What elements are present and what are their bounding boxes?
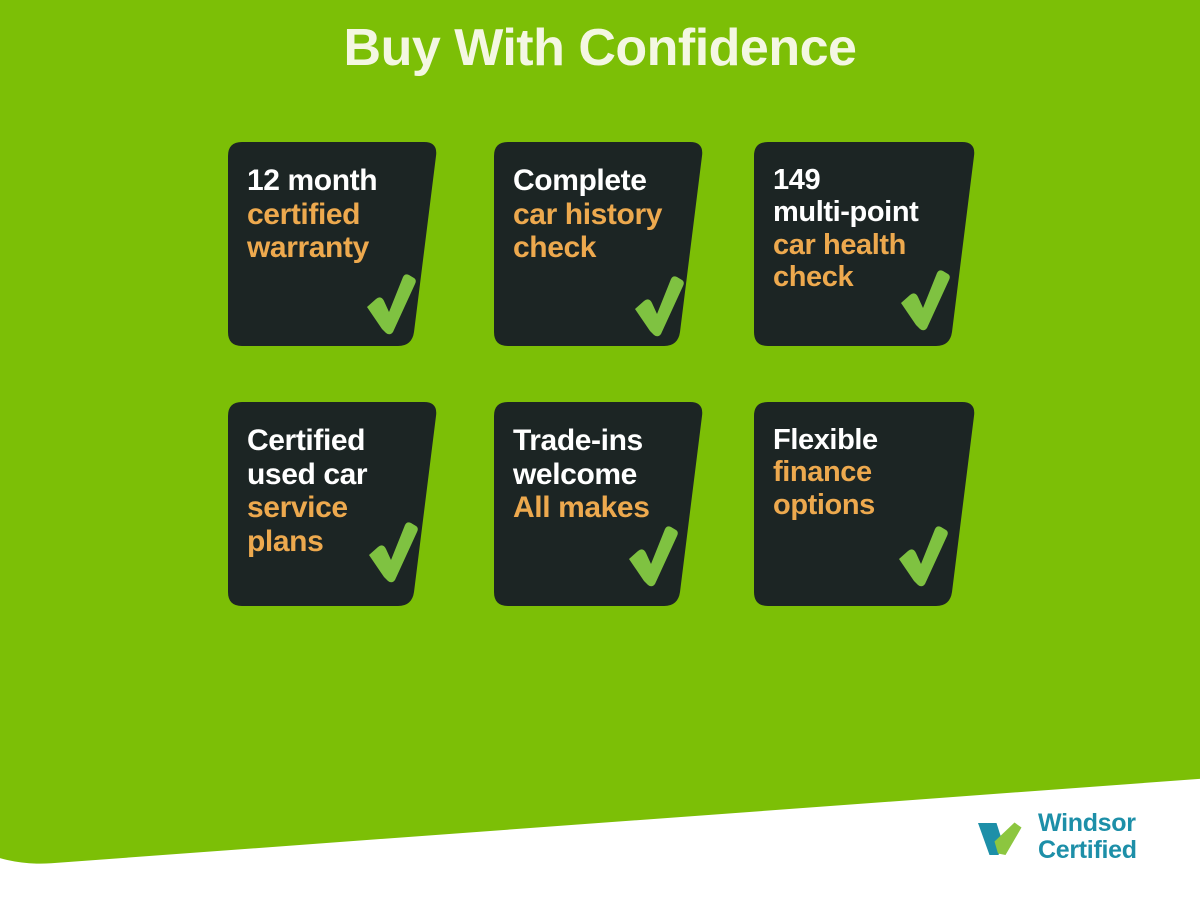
page-title: Buy With Confidence (0, 22, 1200, 74)
card-line: certified (247, 198, 422, 232)
card-line: Flexible (773, 424, 960, 456)
windsor-w-checkmark-icon (974, 810, 1028, 864)
card-line: All makes (513, 491, 688, 525)
card-line: used car (247, 458, 422, 492)
logo-wordmark: Windsor Certified (1038, 810, 1137, 864)
card-line: car health (773, 229, 960, 261)
card-line: options (773, 489, 960, 521)
logo-line-1: Windsor (1038, 810, 1137, 837)
card-text-block: Trade-inswelcomeAll makes (494, 402, 704, 525)
feature-card-trade-ins-welcome-all-makes[interactable]: Trade-inswelcomeAll makes (494, 402, 704, 606)
page-content: Buy With Confidence 12 monthcertifiedwar… (0, 0, 1200, 900)
card-line: check (513, 231, 688, 265)
card-text-block: 12 monthcertifiedwarranty (228, 142, 438, 265)
feature-card-149-multi-point-car-health-check[interactable]: 149multi-pointcar healthcheck (754, 142, 976, 346)
feature-card-certified-used-car-service-plans[interactable]: Certifiedused carserviceplans (228, 402, 438, 606)
card-line: Certified (247, 424, 422, 458)
feature-card-12-month-certified-warranty[interactable]: 12 monthcertifiedwarranty (228, 142, 438, 346)
windsor-certified-logo: Windsor Certified (974, 810, 1137, 864)
card-line: 12 month (247, 164, 422, 198)
card-line: check (773, 261, 960, 293)
card-text-block: 149multi-pointcar healthcheck (754, 142, 976, 294)
card-line: multi-point (773, 196, 960, 228)
card-line: Trade-ins (513, 424, 688, 458)
card-line: finance (773, 456, 960, 488)
card-line: car history (513, 198, 688, 232)
card-text-block: Flexiblefinanceoptions (754, 402, 976, 521)
feature-card-flexible-finance-options[interactable]: Flexiblefinanceoptions (754, 402, 976, 606)
card-line: welcome (513, 458, 688, 492)
feature-card-complete-car-history-check[interactable]: Completecar historycheck (494, 142, 704, 346)
card-line: plans (247, 525, 422, 559)
card-text-block: Completecar historycheck (494, 142, 704, 265)
card-line: service (247, 491, 422, 525)
card-text-block: Certifiedused carserviceplans (228, 402, 438, 558)
card-line: warranty (247, 231, 422, 265)
logo-line-2: Certified (1038, 837, 1137, 864)
card-line: 149 (773, 164, 960, 196)
card-line: Complete (513, 164, 688, 198)
